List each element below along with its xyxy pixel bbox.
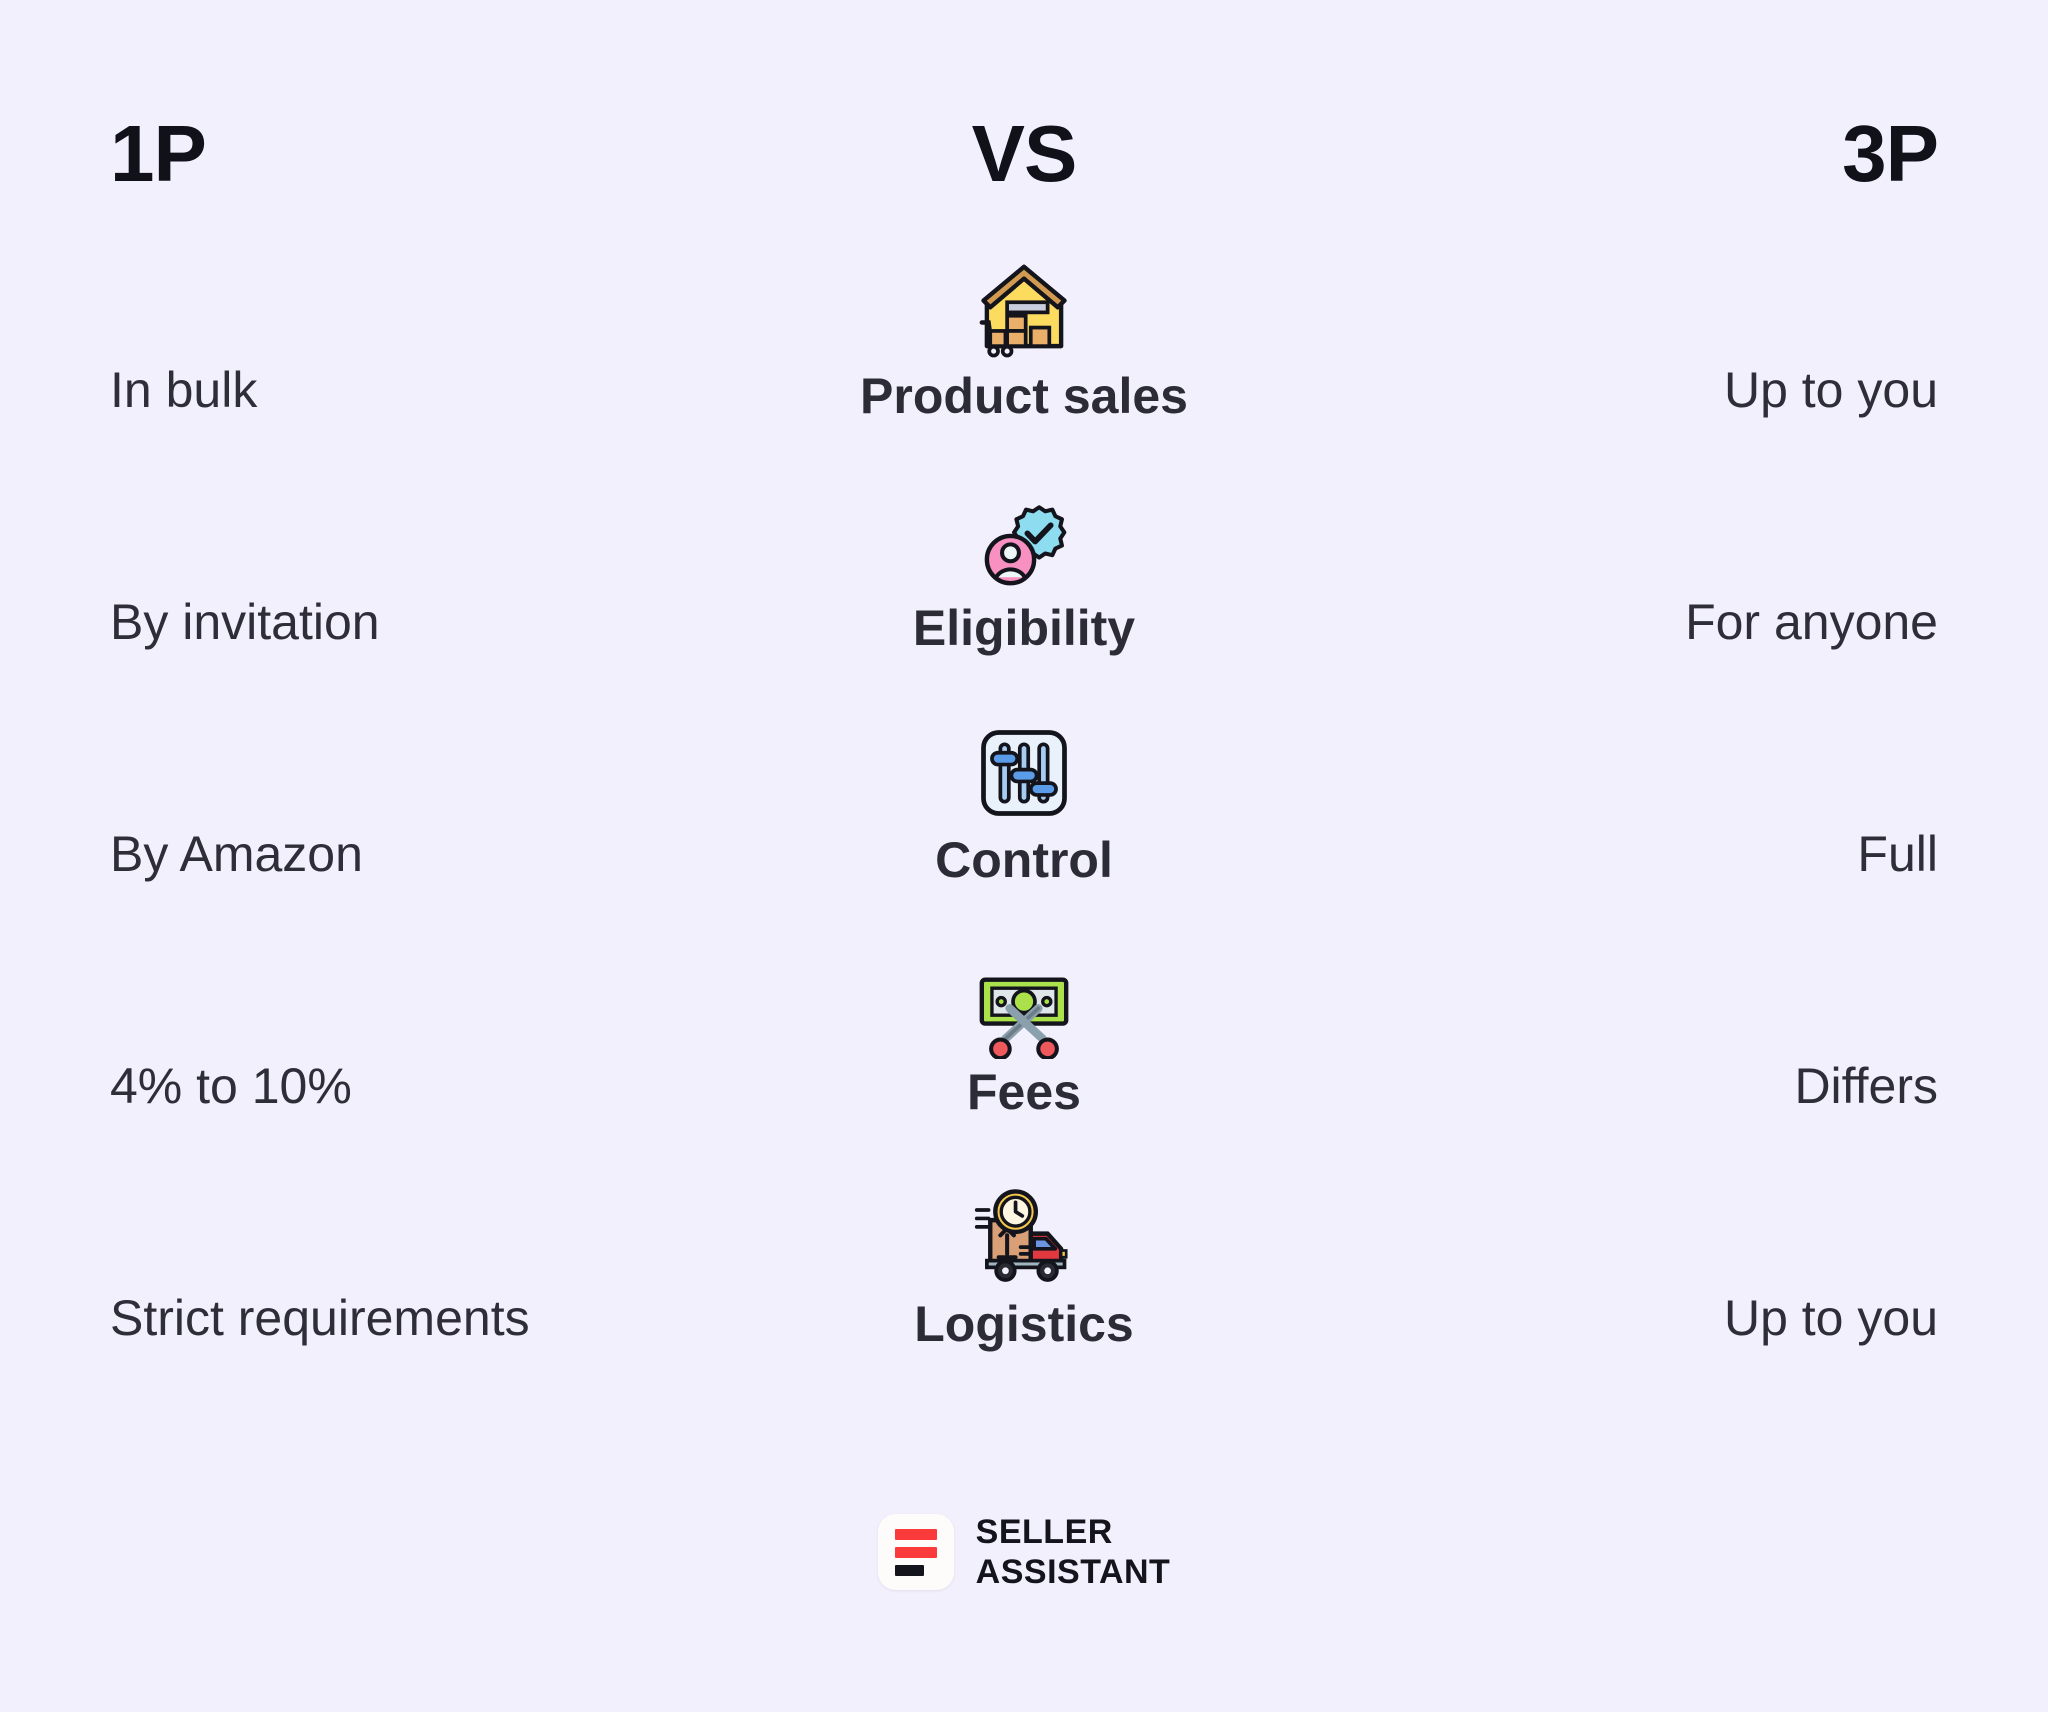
brand-line-2: ASSISTANT [976,1552,1171,1592]
row-center: Control [710,719,1338,926]
row-value-3p: For anyone [1338,595,1938,694]
warehouse-icon [970,255,1078,363]
row-value-1p: 4% to 10% [110,1059,710,1158]
row-center: Product sales [710,255,1338,462]
comparison-row: By invitation Eligibility For anyone [110,462,1938,694]
row-value-3p: Full [1338,827,1938,926]
comparison-infographic: 1P VS 3P In bulk [0,0,2048,1712]
brand-line-1: SELLER [976,1512,1171,1552]
comparison-row: By Amazon Control Full [110,694,1938,926]
brand-footer: SELLER ASSISTANT [110,1512,1938,1592]
row-category-label: Control [935,833,1113,926]
money-scissors-icon [970,951,1078,1059]
row-value-1p: In bulk [110,363,710,462]
header-label-1p: 1P [110,114,670,194]
row-value-1p: By Amazon [110,827,710,926]
comparison-rows: In bulk Product [110,230,1938,1390]
comparison-row: Strict requirements [110,1158,1938,1390]
logo-bar-1 [895,1529,937,1540]
row-center: Logistics [710,1183,1338,1390]
row-category-label: Fees [967,1065,1081,1158]
row-value-3p: Differs [1338,1059,1938,1158]
verified-user-icon [970,487,1078,595]
seller-assistant-logo-icon [878,1514,954,1590]
comparison-header: 1P VS 3P [110,0,1938,230]
row-category-label: Product sales [860,369,1188,462]
comparison-row: In bulk Product [110,230,1938,462]
header-label-3p: 3P [1378,114,1938,194]
sliders-icon [970,719,1078,827]
comparison-row: 4% to 10% Fees [110,926,1938,1158]
row-category-label: Eligibility [913,601,1135,694]
row-value-1p: Strict requirements [110,1291,710,1390]
header-label-vs: VS [670,114,1378,194]
logo-bar-2 [895,1547,937,1558]
delivery-truck-clock-icon [970,1183,1078,1291]
brand-wordmark: SELLER ASSISTANT [976,1512,1171,1592]
logo-bar-3 [895,1565,924,1576]
row-value-1p: By invitation [110,595,710,694]
row-value-3p: Up to you [1338,1291,1938,1390]
row-center: Fees [710,951,1338,1158]
row-value-3p: Up to you [1338,363,1938,462]
row-category-label: Logistics [914,1297,1133,1390]
row-center: Eligibility [710,487,1338,694]
